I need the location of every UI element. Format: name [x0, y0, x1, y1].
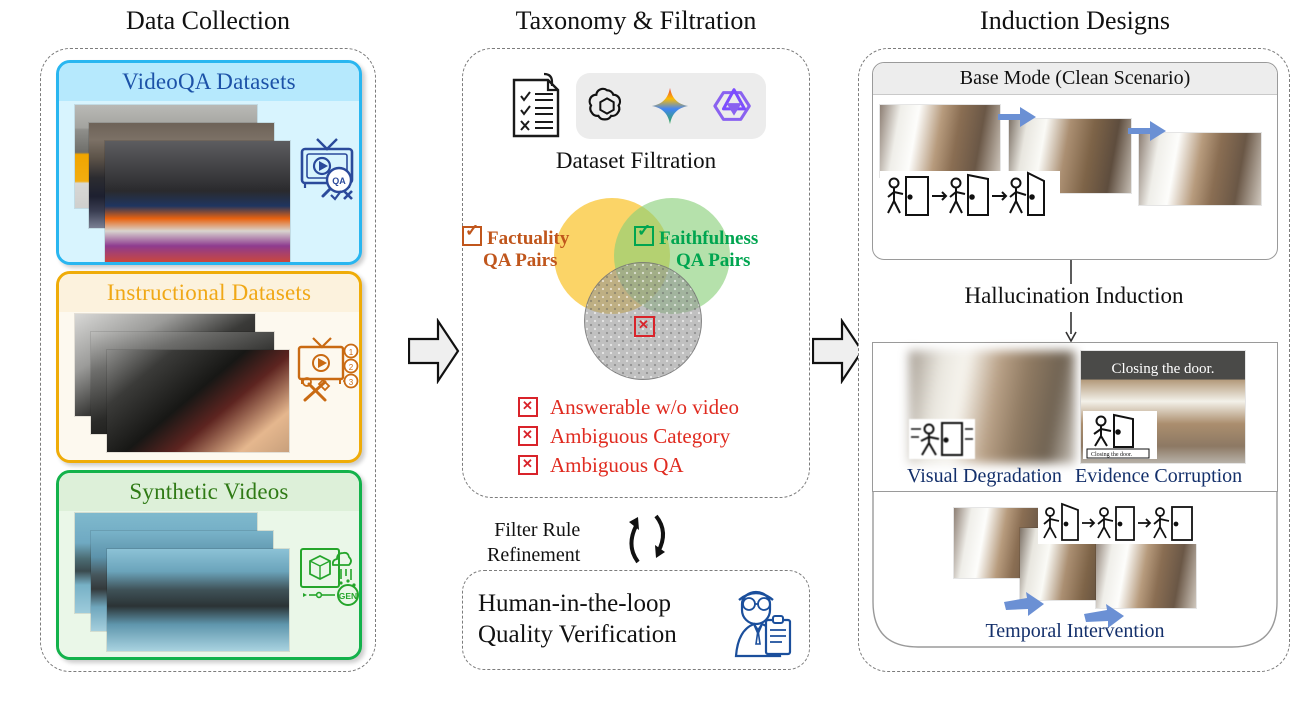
venn-label-faithfulness-line2: QA Pairs	[676, 250, 750, 271]
svg-text:1: 1	[349, 348, 354, 357]
stick-figure-closing-door-sequence	[1038, 502, 1198, 544]
caption-temporal-intervention: Temporal Intervention	[872, 620, 1278, 643]
exclusion-label: Ambiguous QA	[550, 453, 684, 477]
hallucination-induction-label: Hallucination Induction	[858, 283, 1290, 309]
x-box-icon	[518, 455, 538, 475]
svg-text:2: 2	[349, 363, 354, 372]
svg-text:QA: QA	[332, 176, 346, 186]
column-title-data-collection: Data Collection	[40, 6, 376, 36]
x-box-icon	[518, 397, 538, 417]
video-frame-thumbnail	[107, 350, 289, 452]
model-logos-group	[576, 73, 766, 139]
figure-canvas: Data Collection Taxonomy & Filtration In…	[0, 0, 1316, 702]
temporal-frame-3	[1096, 536, 1196, 608]
exclusion-ambiguous-category: Ambiguous Category	[518, 424, 730, 449]
blurred-stick-figure-icon	[909, 419, 975, 459]
svg-text:GEN: GEN	[339, 591, 357, 601]
qwen-logo-icon	[712, 84, 756, 128]
card-videoqa-datasets[interactable]: VideoQA Datasets QA	[56, 60, 362, 265]
venn-label-factuality-line2: QA Pairs	[483, 250, 557, 271]
svg-text:3: 3	[349, 378, 354, 387]
venn-diagram: Factuality QA Pairs Faithfulness QA Pair…	[462, 190, 810, 400]
human-verification-text: Human-in-the-loop Quality Verification	[478, 588, 677, 650]
exclusion-label: Answerable w/o video	[550, 395, 739, 419]
card-synthetic-videos[interactable]: Synthetic Videos GEN	[56, 470, 362, 660]
card-body-videoqa: QA	[59, 101, 359, 262]
caption-stick-figure-icon: Closing the door.	[1083, 411, 1157, 459]
card-title-videoqa: VideoQA Datasets	[59, 63, 359, 101]
checklist-document-icon	[508, 70, 564, 142]
check-icon-factuality	[462, 228, 487, 249]
openai-logo-icon	[586, 85, 628, 127]
video-frame-thumbnail	[107, 549, 289, 651]
exclusion-ambiguous-qa: Ambiguous QA	[518, 453, 684, 478]
filter-rule-refinement-label: Filter Rule Refinement	[487, 518, 580, 568]
inspector-clipboard-icon	[722, 582, 794, 660]
card-title-synthetic: Synthetic Videos	[59, 473, 359, 511]
flow-arrow-left-to-middle	[408, 318, 460, 384]
base-mode-title: Base Mode (Clean Scenario)	[873, 63, 1277, 95]
venn-label-faithfulness: Faithfulness QA Pairs	[634, 226, 758, 272]
clean-frame-1	[880, 105, 1000, 177]
dataset-filtration-label: Dataset Filtration	[462, 148, 810, 174]
gemini-sparkle-icon	[649, 85, 691, 127]
caption-evidence-corruption: Evidence Corruption	[1075, 465, 1242, 488]
induction-modes-panel: Closing the door. Closing the door. Visu…	[872, 342, 1278, 492]
human-verification-line2: Quality Verification	[478, 619, 677, 650]
base-mode-panel: Base Mode (Clean Scenario)	[872, 62, 1278, 260]
flow-arrow-middle-to-right	[812, 318, 864, 384]
refresh-loop-icon	[612, 508, 682, 570]
column-title-induction-designs: Induction Designs	[860, 6, 1290, 36]
exclusion-answerable-wo-video: Answerable w/o video	[518, 395, 739, 420]
corruption-subtitle-text: Closing the door.	[1091, 452, 1133, 458]
stick-figure-open-door-sequence	[880, 171, 1060, 221]
x-box-icon	[518, 426, 538, 446]
card-body-synthetic: GEN	[59, 511, 359, 657]
card-instructional-datasets[interactable]: Instructional Datasets 1 2 3	[56, 271, 362, 463]
temporal-arrow-1	[1004, 592, 1046, 618]
x-box-icon-venn-center	[634, 316, 655, 337]
induction-connector-bottom-arrow	[1062, 312, 1080, 342]
card-title-instructional: Instructional Datasets	[59, 274, 359, 312]
sequence-arrow-1	[998, 105, 1038, 129]
filter-rule-line2: Refinement	[487, 543, 580, 568]
venn-label-factuality: Factuality QA Pairs	[462, 226, 569, 272]
cube-gen-icon: GEN	[299, 543, 361, 609]
induction-connector-top	[1069, 260, 1073, 284]
card-body-instructional: 1 2 3	[59, 312, 359, 460]
exclusion-label: Ambiguous Category	[550, 424, 730, 448]
venn-label-factuality-line1: Factuality	[487, 228, 569, 249]
tv-qa-search-icon: QA	[297, 133, 359, 203]
venn-label-faithfulness-line1: Faithfulness	[659, 228, 758, 249]
filter-rule-line1: Filter Rule	[487, 518, 580, 543]
clean-frame-3	[1139, 133, 1261, 205]
video-frame-thumbnail	[105, 141, 290, 265]
column-title-taxonomy-filtration: Taxonomy & Filtration	[462, 6, 810, 36]
temporal-intervention-group: Temporal Intervention	[872, 492, 1278, 648]
check-icon-faithfulness	[634, 228, 659, 249]
caption-visual-degradation: Visual Degradation	[907, 465, 1062, 488]
tv-steps-tools-icon: 1 2 3	[295, 334, 359, 404]
human-verification-line1: Human-in-the-loop	[478, 588, 677, 619]
corruption-overlay-text: Closing the door.	[1081, 361, 1245, 378]
sequence-arrow-2	[1128, 119, 1168, 143]
